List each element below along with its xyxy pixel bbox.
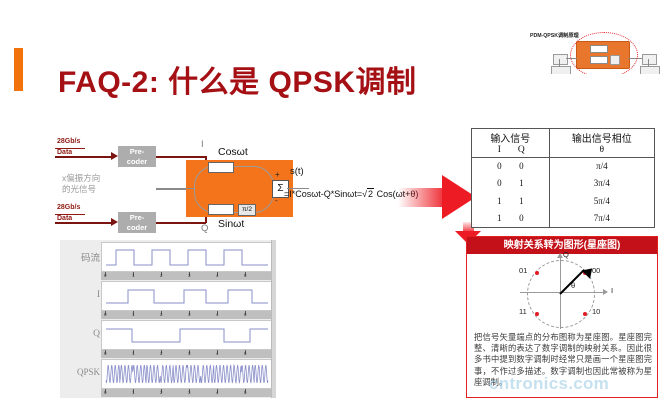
axis-tick: 3 [188, 351, 191, 356]
axis-tick: 3 [188, 312, 191, 317]
constellation-point [535, 312, 539, 316]
waveform-svg-q [102, 321, 272, 349]
table-header-input-sub: IQ [472, 145, 549, 155]
table-row: 11 5π/4 [472, 193, 654, 210]
precoder-top-line2: coder [118, 157, 156, 167]
precoder-top-line1: Pre- [118, 147, 156, 157]
precoder-bottom: Pre- coder [118, 212, 156, 233]
constellation-axis-q-label: Q [563, 250, 569, 259]
table-cell-iq: 01 [472, 175, 549, 192]
axis-tick: 2 [160, 390, 163, 395]
input-rate-top: 28Gb/s [57, 138, 80, 146]
pdm-qpsk-thumbnail: PDM-QPSK调制原理 [524, 2, 668, 74]
waveform-panel: 码流 I Q QPSK 0 1 2 3 4 5 [60, 240, 276, 398]
table-cell-q: 0 [510, 159, 532, 174]
axis-tick: 0 [104, 351, 107, 356]
title-accent-bar [14, 48, 23, 91]
page-title: FAQ-2: 什么是 QPSK调制 [58, 57, 417, 101]
equation-radicand: 2 [367, 188, 374, 199]
waveform-label-q: Q [60, 329, 100, 339]
wire-input-bottom [55, 222, 113, 224]
table-cell-i: 1 [488, 194, 510, 209]
label-sin-branch: Sinωt [218, 218, 244, 230]
qpsk-truth-table: 输入信号 IQ 输出信号相位 θ 00 π/4 [471, 128, 655, 228]
wire-input-top [55, 156, 113, 158]
table-cell-q: 1 [510, 176, 532, 191]
axis-tick: 4 [216, 390, 219, 395]
axis-tick: 4 [216, 312, 219, 317]
summer-plus-sign: + [275, 170, 280, 179]
waveform-plot-qpsk [101, 359, 273, 389]
thumbnail-drop-right [648, 59, 649, 67]
waveform-row-labels: 码流 I Q QPSK [60, 240, 100, 398]
constellation-axis-i-label: I [611, 286, 613, 295]
slide-canvas: FAQ-2: 什么是 QPSK调制 PDM-QPSK调制原理 28Gb/s Da… [0, 0, 668, 401]
axis-tick: 1 [132, 390, 135, 395]
axis-tick: 5 [244, 273, 247, 278]
precoder-bottom-line2: coder [118, 223, 156, 233]
waveform-label-i: I [60, 290, 100, 300]
thumbnail-drop-left [559, 59, 560, 67]
polarization-note-line1: x偏振方向 [62, 173, 100, 184]
axis-tick: 3 [188, 390, 191, 395]
output-signal-label: s(t) [290, 166, 304, 177]
constellation-point [583, 312, 587, 316]
axis-tick: 2 [160, 312, 163, 317]
table-header-output-sub: θ [550, 145, 654, 155]
table-row: 01 3π/4 [472, 175, 654, 192]
polarization-note-line2: 的光信号 [62, 184, 100, 195]
input-rate-bottom: 28Gb/s [57, 204, 80, 212]
phase-shifter: π/2 [238, 204, 256, 216]
table-row: 10 7π/4 [472, 210, 654, 227]
table-cell-iq: 00 [472, 158, 549, 176]
waveform-axis-qpsk: 0 1 2 3 4 5 [101, 389, 273, 397]
axis-tick: 0 [104, 312, 107, 317]
precoder-bottom-line1: Pre- [118, 213, 156, 223]
label-i-input: I [201, 139, 204, 150]
waveform-svg-i [102, 282, 272, 310]
axis-tick: 0 [104, 273, 107, 278]
waveform-plot-q [101, 320, 273, 350]
waveform-plot-bitstream [101, 242, 273, 272]
constellation-plot: Q I 01 00 11 10 θ [475, 257, 651, 329]
constellation-point-label: 01 [519, 266, 527, 275]
mz-loop [194, 166, 274, 213]
table-cell-q: 0 [510, 211, 532, 226]
table-cell-theta: 7π/4 [549, 210, 654, 227]
thumbnail-right-node [642, 54, 657, 65]
table-cell-iq: 11 [472, 193, 549, 210]
table-col-i: I [488, 145, 510, 155]
polarization-note: x偏振方向 的光信号 [62, 173, 100, 195]
axis-tick: 2 [160, 273, 163, 278]
table-cell-iq: 10 [472, 210, 549, 227]
waveform-axis-q: 0 1 2 3 4 5 [101, 350, 273, 358]
axis-tick: 5 [244, 312, 247, 317]
axis-tick: 1 [132, 312, 135, 317]
table-cell-i: 0 [488, 176, 510, 191]
label-cos-branch: Cosωt [218, 146, 248, 158]
table-header-input-text: 输入信号 [472, 130, 549, 145]
mz-arm-i [208, 162, 234, 173]
axis-tick: 0 [104, 390, 107, 395]
axis-tick: 4 [216, 351, 219, 356]
table-row: 00 π/4 [472, 158, 654, 176]
mz-arm-q [208, 204, 234, 215]
constellation-point-label: 10 [592, 307, 600, 316]
flow-arrow-right-shaft [398, 188, 446, 207]
table-cell-i: 1 [488, 211, 510, 226]
table-cell-theta: 5π/4 [549, 193, 654, 210]
table-header-input: 输入信号 IQ [472, 129, 549, 158]
table-cell-theta: 3π/4 [549, 175, 654, 192]
waveform-plot-i [101, 281, 273, 311]
waveform-axis-i: 0 1 2 3 4 5 [101, 311, 273, 319]
table-cell-theta: π/4 [549, 158, 654, 176]
waveform-svg-bitstream [102, 243, 272, 271]
waveform-axis-bitstream: 0 1 2 3 4 5 [101, 272, 273, 280]
wire-mz-in [178, 188, 194, 189]
summer-minus-sign: - [275, 196, 278, 205]
site-watermark: cntronics.com [489, 374, 609, 394]
constellation-point-label: 11 [519, 307, 527, 316]
waveform-scrollbar[interactable] [271, 240, 276, 398]
axis-tick: 3 [188, 273, 191, 278]
constellation-theta-label: θ [571, 281, 575, 290]
arrowhead-input-bottom [111, 218, 118, 226]
thumbnail-left-block [551, 66, 571, 74]
axis-tick: 4 [216, 273, 219, 278]
table-col-q: Q [510, 145, 532, 155]
thumbnail-highlight-ellipse [570, 32, 638, 74]
label-q-input: Q [201, 223, 208, 234]
constellation-banner: 映射关系转为图形(星座图) [467, 237, 657, 254]
waveform-label-bitstream: 码流 [60, 250, 100, 264]
table-header-output: 输出信号相位 θ [549, 129, 654, 158]
constellation-axis-i-arrow [603, 289, 608, 295]
axis-tick: 5 [244, 390, 247, 395]
thumbnail-left-node [553, 54, 568, 65]
table-cell-i: 0 [488, 159, 510, 174]
axis-tick: 1 [132, 351, 135, 356]
waveform-plots: 0 1 2 3 4 5 0 1 2 3 4 5 [101, 242, 273, 396]
waveform-label-qpsk: QPSK [60, 367, 100, 377]
table-cell-q: 1 [510, 194, 532, 209]
wire-precoder-bottom-out [156, 222, 206, 224]
waveform-svg-qpsk [102, 360, 272, 388]
axis-tick: 2 [160, 351, 163, 356]
arrowhead-input-top [111, 152, 118, 160]
table-header-output-text: 输出信号相位 [550, 130, 654, 145]
flow-arrow-right [398, 175, 476, 219]
wire-precoder-top-out [156, 156, 206, 158]
thumbnail-right-block [640, 66, 660, 74]
thumbnail-label: PDM-QPSK调制原理 [530, 32, 579, 39]
precoder-top: Pre- coder [118, 146, 156, 167]
constellation-point [535, 271, 539, 275]
axis-tick: 1 [132, 273, 135, 278]
equation-part1: =I*Cosωt-Q*Sinωt= [284, 189, 362, 199]
axis-tick: 5 [244, 351, 247, 356]
